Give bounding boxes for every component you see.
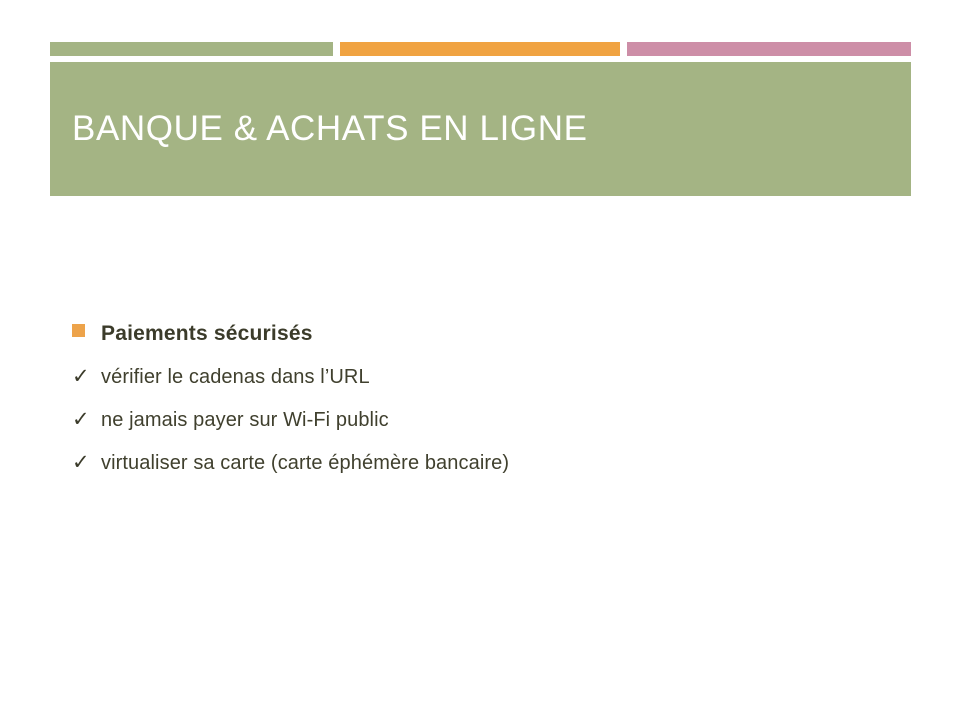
presentation-slide: BANQUE & ACHATS EN LIGNE Paiements sécur… <box>0 0 960 720</box>
accent-segment-green <box>50 42 333 56</box>
bullet-item-check-2: ✓ ne jamais payer sur Wi-Fi public <box>72 408 892 432</box>
check-mark-icon: ✓ <box>72 451 85 474</box>
slide-body: Paiements sécurisés ✓ vérifier le cadena… <box>72 322 892 475</box>
bullet-item-check-1: ✓ vérifier le cadenas dans l’URL <box>72 365 892 389</box>
bullet-item-check-3: ✓ virtualiser sa carte (carte éphémère b… <box>72 451 892 475</box>
accent-segment-pink <box>627 42 911 56</box>
check-mark-icon: ✓ <box>72 408 85 431</box>
square-bullet-icon <box>72 324 85 337</box>
bullet-check-label-3: virtualiser sa carte (carte éphémère ban… <box>101 452 509 475</box>
check-mark-icon: ✓ <box>72 365 85 388</box>
bullet-check-label-1: vérifier le cadenas dans l’URL <box>101 366 370 389</box>
title-banner: BANQUE & ACHATS EN LIGNE <box>50 62 911 196</box>
bullet-lead-label: Paiements sécurisés <box>101 322 313 345</box>
accent-segment-orange <box>340 42 620 56</box>
slide-title: BANQUE & ACHATS EN LIGNE <box>72 62 588 196</box>
bullet-item-lead: Paiements sécurisés <box>72 322 892 345</box>
bullet-check-label-2: ne jamais payer sur Wi-Fi public <box>101 409 389 432</box>
accent-rule <box>50 42 911 56</box>
